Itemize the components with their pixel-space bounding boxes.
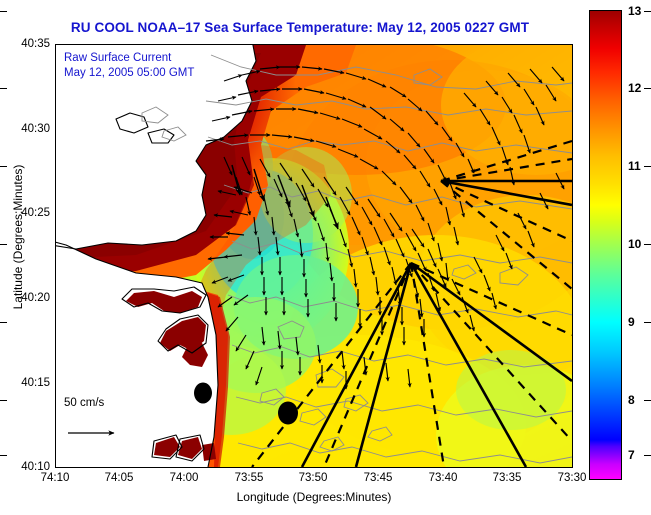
colorbar-tick-9 <box>0 322 7 323</box>
map-plot-area[interactable]: Raw Surface Current May 12, 2005 05:00 G… <box>55 44 573 468</box>
page-title: RU COOL NOAA–17 Sea Surface Temperature:… <box>0 20 600 35</box>
xtick-0: 74:10 <box>25 472 85 484</box>
ytick-5: 40:10 <box>0 461 50 473</box>
ytick-2: 40:25 <box>0 207 50 219</box>
overlay-annotation-line2: May 12, 2005 05:00 GMT <box>64 66 194 81</box>
colorbar-tick-7 <box>0 455 7 456</box>
overlay-annotation-line1: Raw Surface Current <box>64 51 171 66</box>
radar-site-marker <box>194 383 212 404</box>
x-axis-label: Longitude (Degrees:Minutes) <box>55 490 573 504</box>
ytick-1: 40:30 <box>0 123 50 135</box>
xtick-6: 73:40 <box>413 472 473 484</box>
ytick-3: 40:20 <box>0 292 50 304</box>
sst-figure: RU COOL NOAA–17 Sea Surface Temperature:… <box>0 0 651 515</box>
xtick-7: 73:35 <box>477 472 537 484</box>
sst-map-canvas <box>56 45 572 467</box>
y-axis-label: Latitude (Degrees:Minutes) <box>11 137 25 337</box>
colorbar-label-10: 10 <box>628 237 641 251</box>
radar-site-marker <box>278 402 298 425</box>
xtick-5: 73:45 <box>348 472 408 484</box>
xtick-3: 73:55 <box>219 472 279 484</box>
colorbar-tick-12 <box>0 88 7 89</box>
xtick-4: 73:50 <box>283 472 343 484</box>
colorbar-label-7: 7 <box>628 448 635 462</box>
colorbar-label-8: 8 <box>628 393 635 407</box>
colorbar-tick-11 <box>0 166 7 167</box>
colorbar-tick-8 <box>0 400 7 401</box>
xtick-1: 74:05 <box>89 472 149 484</box>
vector-scale-label: 50 cm/s <box>64 397 104 409</box>
colorbar-label-13: 13 <box>628 4 641 18</box>
colorbar-label-9: 9 <box>628 315 635 329</box>
colorbar-label-12: 12 <box>628 81 641 95</box>
colorbar-tick-13 <box>0 11 7 12</box>
ytick-0: 40:35 <box>0 38 50 50</box>
temperature-colorbar[interactable] <box>589 10 622 480</box>
xtick-2: 74:00 <box>154 472 214 484</box>
colorbar-label-11: 11 <box>628 159 641 173</box>
colorbar-tick-10 <box>0 244 7 245</box>
ytick-4: 40:15 <box>0 377 50 389</box>
